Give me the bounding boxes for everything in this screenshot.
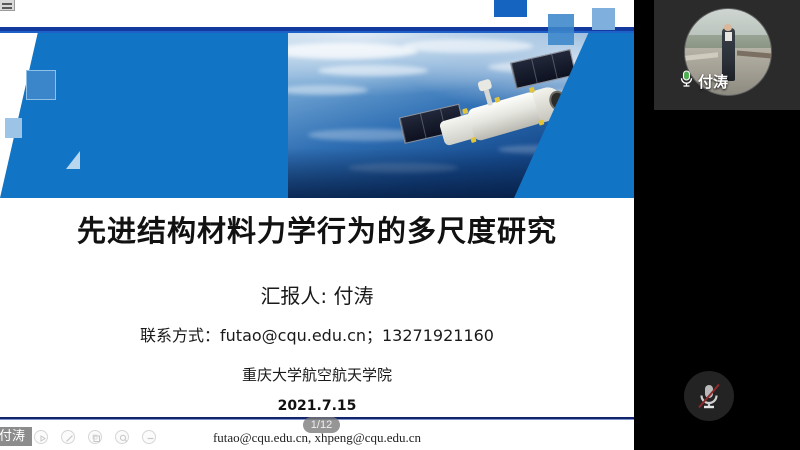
mute-microphone-button[interactable] bbox=[684, 371, 734, 421]
participant-name: 付涛 bbox=[698, 71, 728, 92]
microphone-muted-icon bbox=[694, 380, 724, 412]
decor-square-overlap-blue bbox=[548, 14, 574, 45]
slide-affiliation: 重庆大学航空航天学院 bbox=[0, 364, 634, 385]
slide-banner bbox=[0, 33, 634, 198]
page-indicator-badge: 1/12 bbox=[303, 417, 340, 433]
participant-video-tile[interactable]: 付涛 bbox=[654, 0, 800, 110]
video-panel: 付涛 bbox=[634, 0, 800, 450]
annotation-toolbar[interactable] bbox=[34, 430, 156, 444]
laser-pointer-icon[interactable] bbox=[34, 430, 48, 444]
pen-icon[interactable] bbox=[61, 430, 75, 444]
microphone-active-icon bbox=[678, 69, 695, 93]
meeting-screen-share-window: 先进结构材料力学行为的多尺度研究 汇报人: 付涛 联系方式：futao@cqu.… bbox=[0, 0, 800, 450]
decor-square-deep-blue bbox=[494, 0, 527, 17]
stamp-icon[interactable] bbox=[88, 430, 102, 444]
app-window-glyph-icon bbox=[0, 0, 15, 11]
banner-blue-parallelogram bbox=[0, 33, 290, 198]
decor-square-light-blue bbox=[5, 118, 22, 138]
shared-slide[interactable]: 先进结构材料力学行为的多尺度研究 汇报人: 付涛 联系方式：futao@cqu.… bbox=[0, 0, 634, 450]
participant-name-row: 付涛 bbox=[678, 70, 798, 92]
slide-date: 2021.7.15 bbox=[0, 398, 634, 414]
decor-square-pale-blue bbox=[592, 8, 615, 30]
space-station-photo bbox=[288, 33, 634, 198]
zoom-icon[interactable] bbox=[115, 430, 129, 444]
slide-contact-info: 联系方式：futao@cqu.edu.cn；13271921160 bbox=[0, 322, 634, 346]
slide-presenter: 汇报人: 付涛 bbox=[0, 280, 634, 309]
decor-square-medium-blue bbox=[26, 70, 56, 100]
eraser-icon[interactable] bbox=[142, 430, 156, 444]
presenter-name-chip: 付涛 bbox=[0, 427, 32, 446]
slide-title: 先进结构材料力学行为的多尺度研究 bbox=[0, 208, 634, 250]
